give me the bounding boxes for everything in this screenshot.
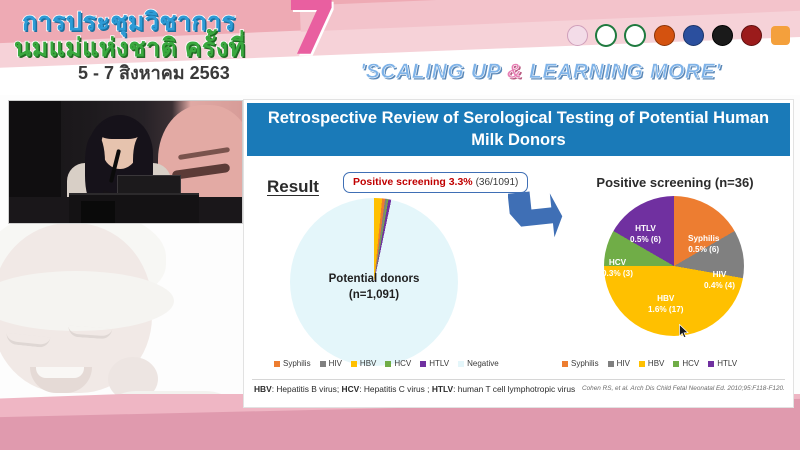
logo-ministry-3-icon bbox=[624, 22, 646, 48]
conference-header-banner: การประชุมวิชาการ นมแม่แห่งชาติ ครั้งที่ … bbox=[0, 0, 800, 95]
positive-screening-pie-chart: Syphilis 0.5% (6) HIV 0.4% (4) HBV 1.6% … bbox=[604, 196, 744, 336]
pie-slice-label-hcv: HCV 0.3% (3) bbox=[602, 258, 633, 279]
callout-highlight-text: Positive screening 3.3% bbox=[353, 176, 473, 188]
pie-slice-label-syphilis: Syphilis 0.5% (6) bbox=[688, 234, 719, 255]
logo-ministry-5-icon bbox=[682, 22, 704, 48]
slice-hcv-value: 0.3% (3) bbox=[602, 269, 633, 280]
tagline-part2: LEARNING MORE' bbox=[523, 60, 721, 83]
legend-item-negative-left: Negative bbox=[458, 359, 499, 368]
footnote-divider bbox=[252, 379, 785, 380]
positive-screening-pie-title: Positive screening (n=36) bbox=[560, 175, 790, 190]
slide-footnote: HBV: Hepatitis B virus; HCV: Hepatitis C… bbox=[254, 384, 575, 394]
pie-slice-label-hiv: HIV 0.4% (4) bbox=[704, 270, 735, 291]
slice-hbv-value: 1.6% (17) bbox=[648, 305, 684, 316]
slice-htlv-name: HTLV bbox=[630, 224, 661, 235]
logo-ministry-4-icon bbox=[653, 22, 675, 48]
slice-syphilis-name: Syphilis bbox=[688, 234, 719, 245]
legend-item-hbv-left: HBV bbox=[351, 359, 376, 368]
potential-donors-subtitle: (n=1,091) bbox=[290, 288, 458, 304]
legend-label-htlv-left: HTLV bbox=[429, 359, 449, 368]
slide-title: Retrospective Review of Serological Test… bbox=[247, 103, 790, 156]
legend-label-hbv-left: HBV bbox=[360, 359, 376, 368]
legend-label-negative-left: Negative bbox=[467, 359, 499, 368]
legend-label-hiv-left: HIV bbox=[329, 359, 342, 368]
presentation-slide: Retrospective Review of Serological Test… bbox=[243, 99, 794, 408]
footnote-htlv-def: : human T cell lymphotropic virus bbox=[453, 384, 575, 394]
sponsor-logo-row bbox=[566, 22, 791, 48]
potential-donors-legend: Syphilis HIV HBV HCV HTLV Negative bbox=[274, 359, 499, 368]
callout-fraction-text: (36/1091) bbox=[476, 177, 519, 188]
pie-slice-label-hbv: HBV 1.6% (17) bbox=[648, 294, 684, 315]
potential-donors-pie-chart: Potential donors (n=1,091) bbox=[290, 198, 458, 366]
conference-date-thai: 5 - 7 สิงหาคม 2563 bbox=[78, 58, 230, 87]
legend-item-hbv-right: HBV bbox=[639, 359, 664, 368]
positive-screening-legend: Syphilis HIV HBV HCV HTLV bbox=[562, 359, 737, 368]
legend-label-syphilis-right: Syphilis bbox=[571, 359, 599, 368]
screenshot-root: การประชุมวิชาการ นมแม่แห่งชาติ ครั้งที่ … bbox=[0, 0, 800, 450]
legend-item-hcv-right: HCV bbox=[673, 359, 699, 368]
slice-htlv-value: 0.5% (6) bbox=[630, 235, 661, 246]
conference-edition-number: 7 bbox=[286, 0, 338, 66]
footnote-hcv-key: HCV bbox=[342, 384, 360, 394]
legend-label-htlv-right: HTLV bbox=[717, 359, 737, 368]
slice-hbv-name: HBV bbox=[648, 294, 684, 305]
legend-item-htlv-right: HTLV bbox=[708, 359, 737, 368]
flow-arrow-icon bbox=[508, 189, 564, 241]
pie-slice-label-htlv: HTLV 0.5% (6) bbox=[630, 224, 661, 245]
speaker-video-panel[interactable] bbox=[8, 100, 243, 224]
logo-ministry-2-icon bbox=[595, 22, 617, 48]
conference-tagline: 'SCALING UP & LEARNING MORE' bbox=[360, 60, 721, 84]
result-heading: Result bbox=[267, 177, 319, 197]
legend-item-htlv-left: HTLV bbox=[420, 359, 449, 368]
logo-ministry-6-icon bbox=[711, 22, 733, 48]
positive-screening-callout: Positive screening 3.3% (36/1091) bbox=[343, 172, 528, 193]
mouse-cursor-icon bbox=[679, 324, 690, 339]
footnote-hbv-def: : Hepatitis B virus; bbox=[272, 384, 342, 394]
legend-item-syphilis-left: Syphilis bbox=[274, 359, 311, 368]
legend-item-hcv-left: HCV bbox=[385, 359, 411, 368]
legend-item-hiv-left: HIV bbox=[320, 359, 342, 368]
legend-item-hiv-right: HIV bbox=[608, 359, 630, 368]
speaker-hair-front bbox=[99, 119, 141, 139]
slice-syphilis-value: 0.5% (6) bbox=[688, 245, 719, 256]
tagline-ampersand: & bbox=[507, 60, 523, 83]
slice-hiv-value: 0.4% (4) bbox=[704, 281, 735, 292]
slice-hiv-name: HIV bbox=[704, 270, 735, 281]
legend-item-syphilis-right: Syphilis bbox=[562, 359, 599, 368]
slice-hcv-name: HCV bbox=[602, 258, 633, 269]
baby-watermark-image bbox=[0, 215, 245, 415]
legend-label-syphilis-left: Syphilis bbox=[283, 359, 311, 368]
footnote-htlv-key: HTLV bbox=[432, 384, 453, 394]
legend-label-hcv-right: HCV bbox=[682, 359, 699, 368]
logo-thaihealth-icon bbox=[769, 22, 791, 48]
footnote-hbv-key: HBV bbox=[254, 384, 272, 394]
slide-citation: Cohen RS, et al. Arch Dis Child Fetal Ne… bbox=[582, 385, 785, 392]
legend-label-hcv-left: HCV bbox=[394, 359, 411, 368]
tagline-part1: 'SCALING UP bbox=[360, 60, 507, 83]
legend-label-hbv-right: HBV bbox=[648, 359, 664, 368]
legend-label-hiv-right: HIV bbox=[617, 359, 630, 368]
potential-donors-pie-label: Potential donors (n=1,091) bbox=[290, 272, 458, 303]
potential-donors-title: Potential donors bbox=[290, 272, 458, 288]
podium-panel bbox=[81, 201, 115, 223]
logo-ministry-7-icon bbox=[740, 22, 762, 48]
footnote-hcv-def: : Hepatitis C virus ; bbox=[359, 384, 432, 394]
logo-ministry-1-icon bbox=[566, 22, 588, 48]
